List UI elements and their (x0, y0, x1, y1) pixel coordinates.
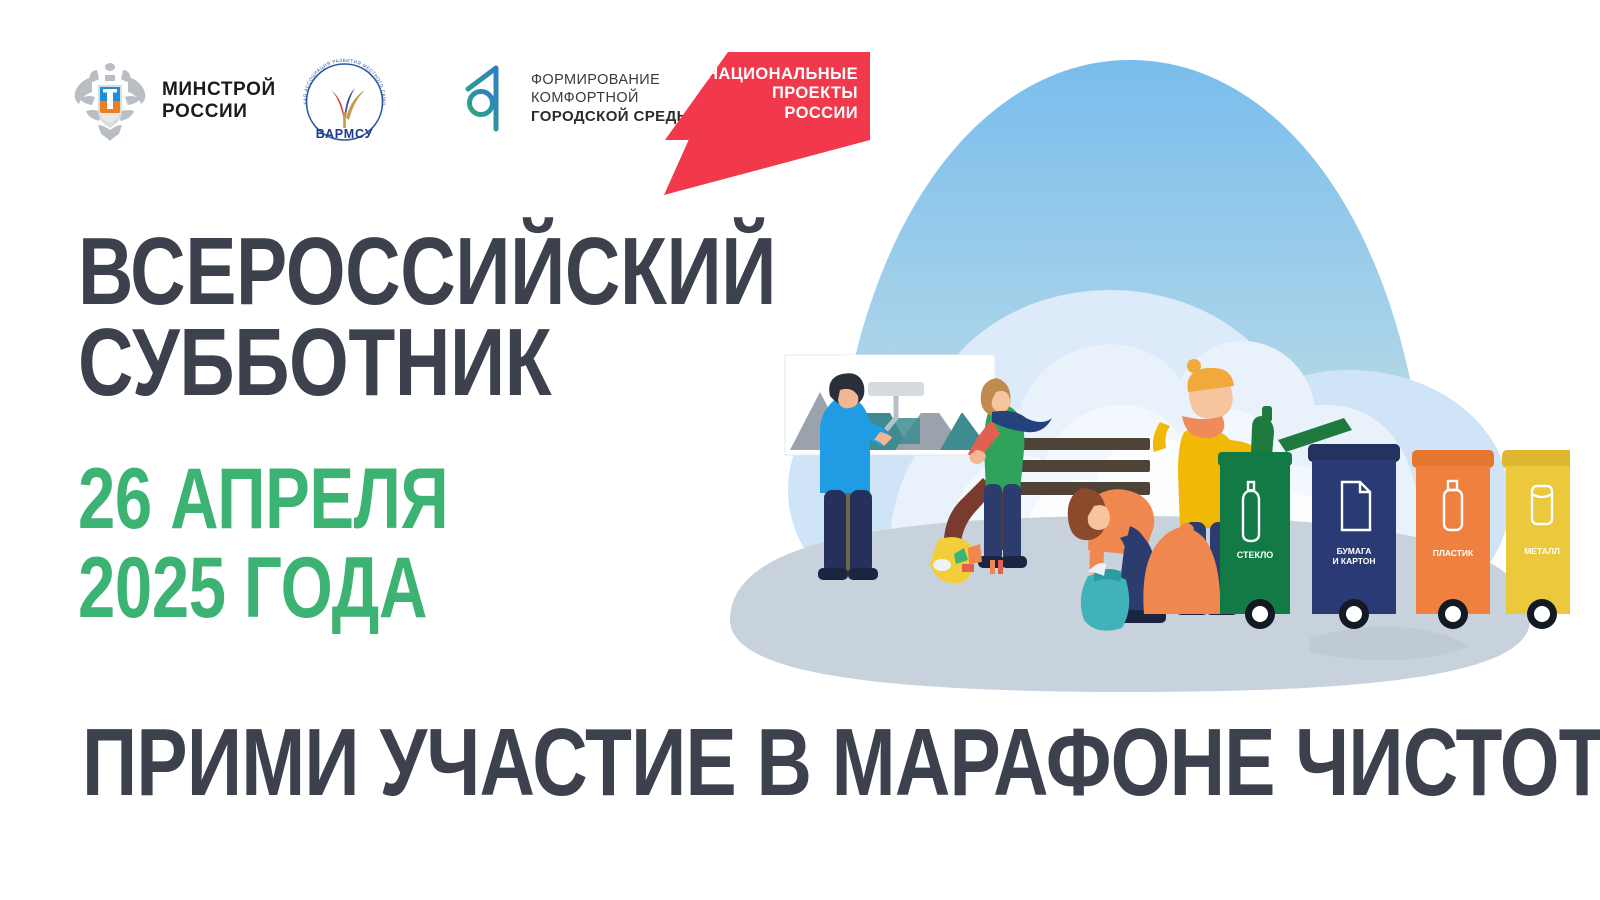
varmsu-logo: ВСЕРОССИЙСКАЯ АССОЦИАЦИЯ РАЗВИТИЯ МЕСТНО… (297, 52, 392, 147)
bin-body-metal (1506, 466, 1570, 614)
slogan-text: ПРИМИ УЧАСТИЕ В МАРАФОНЕ ЧИСТОТЫ! (82, 715, 1600, 811)
minstroy-line-2: РОССИИ (162, 101, 276, 123)
recycling-bin-plastic: ПЛАСТИК (1412, 450, 1494, 629)
bin-label-metal: МЕТАЛЛ (1524, 546, 1560, 556)
date-block: 26 АПРЕЛЯ 2025 ГОДА (78, 455, 553, 634)
illustration-cleanup-scene: СТЕКЛО БУМАГА И КАРТОН (690, 20, 1570, 700)
bin-label-paper-line-1: БУМАГА (1337, 546, 1372, 556)
paint-roller-head (868, 382, 924, 396)
minstroy-logo-text: МИНСТРОЙ РОССИИ (162, 79, 276, 124)
poster: МИНСТРОЙ РОССИИ ВСЕРОССИЙСКАЯ АССОЦИАЦИЯ… (0, 0, 1600, 900)
headline-line-1: ВСЕРОССИЙСКИЙ (78, 226, 776, 317)
recycling-bin-metal: МЕТАЛЛ (1502, 450, 1570, 629)
double-headed-eagle-icon (72, 55, 148, 147)
bin-label-paper-line-2: И КАРТОН (1332, 556, 1375, 566)
bin-label-glass: СТЕКЛО (1237, 550, 1274, 560)
minstroy-rossii-logo: МИНСТРОЙ РОССИИ (72, 55, 276, 147)
painter-jacket (820, 395, 870, 493)
varmsu-wordmark: ВАРМСУ (297, 127, 392, 141)
headline-line-2: СУББОТНИК (78, 317, 776, 408)
house-key-icon (462, 63, 518, 135)
date-line-2: 2025 ГОДА (78, 544, 448, 633)
trash-bag-blue (1081, 574, 1129, 631)
date-line-1: 26 АПРЕЛЯ (78, 455, 448, 544)
minstroy-line-1: МИНСТРОЙ (162, 79, 276, 101)
formirovanie-komfortnoy-gorodskoy-sredy-logo: ФОРМИРОВАНИЕ КОМФОРТНОЙ ГОРОДСКОЙ СРЕДЫ (462, 63, 692, 135)
recycling-bin-paper: БУМАГА И КАРТОН (1308, 444, 1400, 629)
painter-leg-left (824, 490, 846, 574)
painter-leg-right (850, 490, 872, 574)
illustration-svg: СТЕКЛО БУМАГА И КАРТОН (690, 20, 1570, 700)
bin-body-plastic (1416, 466, 1490, 614)
svg-text:ВСЕРОССИЙСКАЯ АССОЦИАЦИЯ РАЗВИ: ВСЕРОССИЙСКАЯ АССОЦИАЦИЯ РАЗВИТИЯ МЕСТНО… (297, 52, 387, 106)
bin-label-plastic: ПЛАСТИК (1433, 548, 1474, 558)
